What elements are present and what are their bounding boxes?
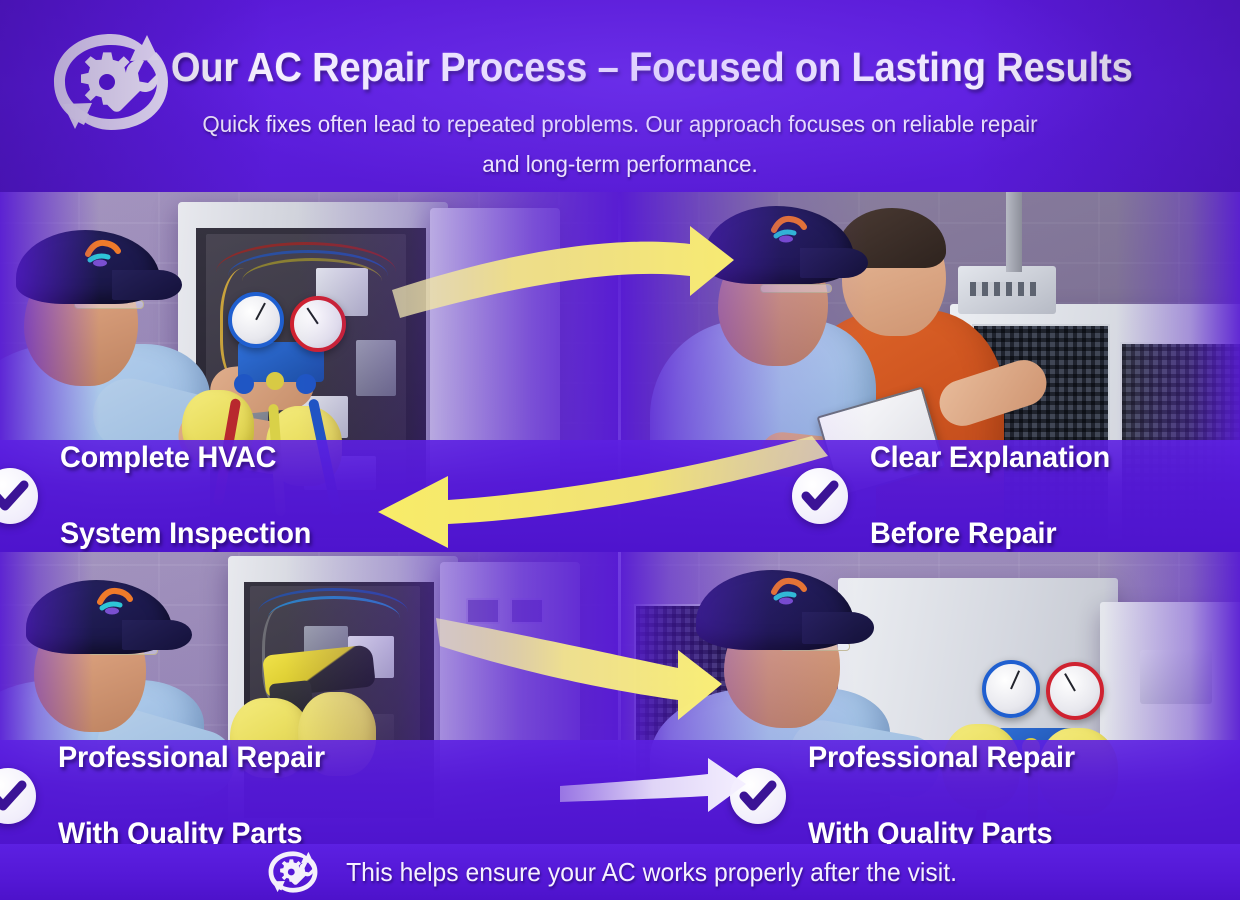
step-2-caption-text: Clear Explanation Before Repair [870,440,1120,552]
step-4-caption: Professional Repair With Quality Parts [620,740,1240,852]
infographic-root: Our AC Repair Process – Focused on Lasti… [0,0,1240,900]
step-2-caption: Clear Explanation Before Repair [620,440,1240,552]
step-4-caption-text: Professional Repair With Quality Parts [808,740,1086,852]
step-2-caption-line-2: Before Repair [870,515,1110,552]
footer-text: This helps ensure your AC works properly… [347,857,958,888]
gear-wrench-cycle-icon [266,849,320,895]
check-circle-icon [792,468,848,524]
cap-logo-icon [84,238,124,268]
check-circle-icon [0,768,36,824]
cap-logo-icon [770,214,810,244]
subtitle-line-2: and long-term performance. [131,144,1110,184]
step-1-caption: Complete HVAC System Inspection [0,440,620,552]
step-3-caption-line-1: Professional Repair [58,740,325,777]
check-circle-icon [0,468,38,524]
step-3-caption-text: Professional Repair With Quality Parts [58,740,336,852]
subtitle-line-1: Quick fixes often lead to repeated probl… [131,104,1110,144]
check-circle-icon [730,768,786,824]
cap-logo-icon [96,586,136,616]
step-4-caption-line-1: Professional Repair [808,740,1075,777]
cap-logo-icon [770,576,810,606]
header-banner: Our AC Repair Process – Focused on Lasti… [0,0,1240,192]
page-title: Our AC Repair Process – Focused on Lasti… [107,44,1132,91]
step-1-caption-line-2: System Inspection [60,515,311,552]
header-subtitle: Quick fixes often lead to repeated probl… [105,104,1135,184]
title-row: Our AC Repair Process – Focused on Lasti… [0,44,1240,91]
step-1-caption-text: Complete HVAC System Inspection [60,440,322,552]
step-2-caption-line-1: Clear Explanation [870,440,1110,477]
footer-bar: This helps ensure your AC works properly… [0,844,1240,900]
step-1-caption-line-1: Complete HVAC [60,440,311,477]
step-3-caption: Professional Repair With Quality Parts [0,740,620,852]
